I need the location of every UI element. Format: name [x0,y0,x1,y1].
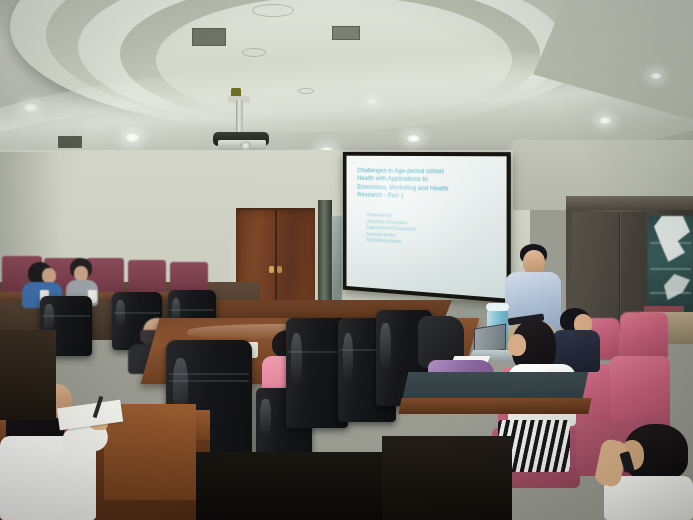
head [42,268,56,283]
downlight [406,134,421,143]
cabinet-shelf [650,268,691,270]
right-side-table-edge [398,398,591,414]
downlight [598,116,612,125]
auditorium-seat[interactable] [620,312,668,358]
downlight [22,102,39,113]
screen-glare [346,156,506,299]
downlight [124,132,141,143]
downlight [650,72,662,80]
door-handle-icon[interactable] [277,266,282,273]
partition-glass [332,216,342,302]
chair-seam [42,315,90,317]
ceiling-vent [192,28,226,46]
cabinet-top-moulding [566,196,693,210]
projector-lens-icon [240,141,251,150]
auditorium-seat[interactable] [128,260,166,294]
thermos-lid [486,303,509,311]
ceiling-ring-mark [252,4,294,17]
cabinet-glass-reflection [664,274,690,300]
left-foreground-shadow [0,330,56,420]
cabinet-glass-reflection [654,216,690,264]
chair-seam [288,351,345,353]
ceiling-vent [58,136,82,148]
projection-screen-surface: Challenges in Age-period cohort Health w… [346,156,506,299]
chair-seam [169,373,248,375]
door-handle-icon[interactable] [269,266,274,273]
conference-room-photo: Challenges in Age-period cohort Health w… [0,0,693,520]
head [74,266,88,281]
chair-seam [169,380,248,382]
ceiling-ring-mark [298,88,314,94]
head [508,334,526,356]
downlight [366,98,377,105]
chair-seam [170,309,214,311]
ceiling-ring-mark [242,48,266,57]
ceiling-vent [332,26,360,40]
chair-seam [114,312,160,314]
cabinet-glass-panel [648,216,693,314]
foreground-shadow [196,452,406,520]
projection-screen: Challenges in Age-period cohort Health w… [343,152,511,303]
projector-drop-pole [236,100,243,136]
foreground-shadow [382,436,512,520]
